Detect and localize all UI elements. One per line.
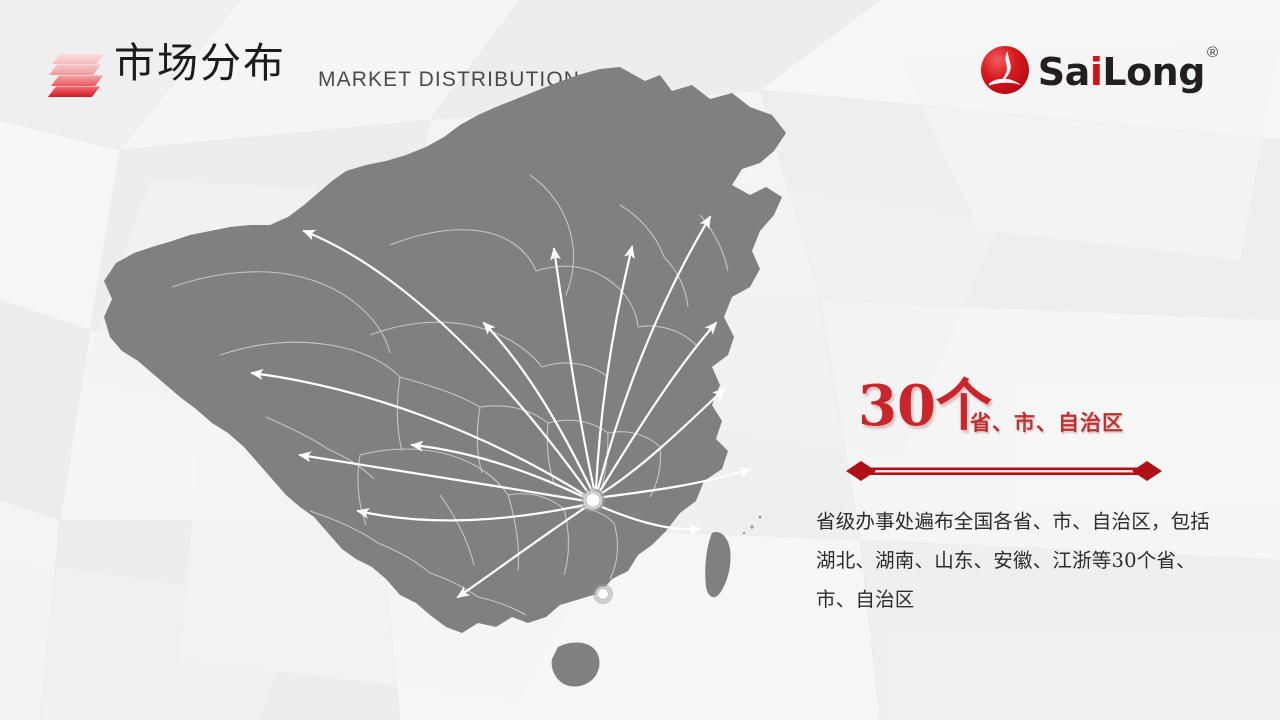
logo-word-ong: ong: [1126, 50, 1205, 94]
stat-row: 30个 省、市、自治区: [814, 380, 1214, 448]
taiwan-island: [705, 532, 730, 597]
description-paragraph: 省级办事处遍布全国各省、市、自治区，包括湖北、湖南、山东、安徽、江浙等30个省、…: [816, 502, 1212, 619]
logo-word-l: L: [1102, 50, 1126, 94]
market-stats-panel: 30个 省、市、自治区 省级办事处遍布全国各省、市、自治区，包括湖北、湖南、山东…: [814, 380, 1214, 448]
logo-word-s: S: [1038, 50, 1065, 94]
logo-word-a: a: [1065, 50, 1090, 94]
sailong-circle-badge-icon: [980, 45, 1030, 95]
registered-trademark-icon: ®: [1207, 44, 1218, 61]
hainan-island: [552, 643, 600, 687]
guangdong-marker[interactable]: [593, 584, 613, 604]
china-market-distribution-map: [60, 55, 820, 715]
wuhan-hub-marker[interactable]: [581, 488, 605, 512]
logo-word-i: i: [1090, 50, 1103, 94]
stat-label: 省、市、自治区: [970, 412, 1124, 433]
small-islands: [743, 516, 762, 535]
diamond-arrow-divider: [846, 458, 1162, 484]
sailong-logo: SaiLong ®: [980, 42, 1218, 98]
slide-canvas: 市场分布 MARKET DISTRIBUTION SaiLong ®: [0, 0, 1280, 720]
logo-wordmark: SaiLong: [1038, 53, 1205, 91]
